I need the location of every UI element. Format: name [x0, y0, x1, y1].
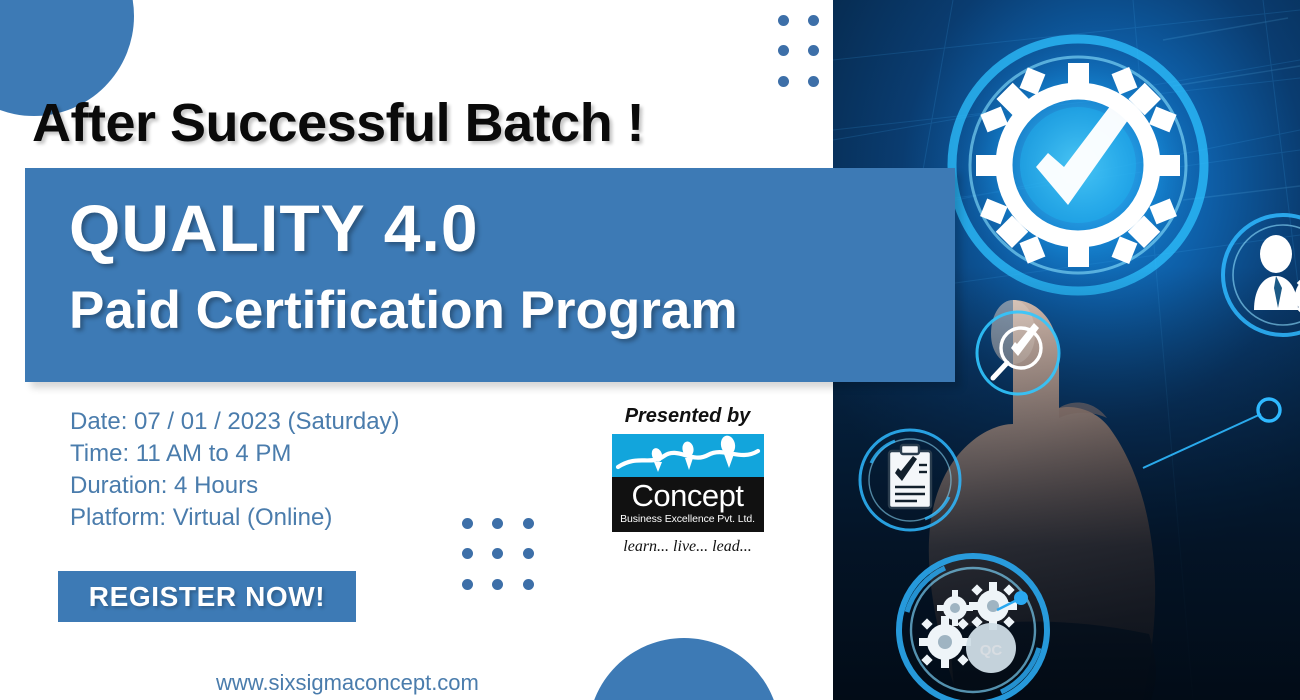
decorative-dot-grid-middle: [452, 508, 544, 600]
magnifier-check-icon: [973, 308, 1063, 398]
title-band: QUALITY 4.0 Paid Certification Program: [25, 168, 955, 382]
event-details-list: Date: 07 / 01 / 2023 (Saturday) Time: 11…: [70, 406, 400, 534]
presented-by-block: Presented by Concept Business Excellence…: [600, 405, 775, 556]
register-now-button[interactable]: REGISTER NOW!: [58, 571, 356, 622]
kicker-headline: After Successful Batch !: [32, 92, 644, 154]
dot: [492, 548, 503, 559]
dot: [492, 518, 503, 529]
qc-label: QC: [980, 642, 1003, 659]
logo-motto: learn... live... lead...: [612, 538, 764, 556]
detail-date: Date: 07 / 01 / 2023 (Saturday): [70, 406, 400, 438]
decorative-circle-bottom: [588, 638, 780, 700]
promo-banner: QC After Successful Batch ! QUALITY 4.0 …: [0, 0, 1300, 700]
logo-wordmark: Concept: [612, 479, 764, 513]
dot: [462, 579, 473, 590]
dot: [778, 76, 789, 87]
logo-figures-band: [612, 434, 764, 477]
dot: [462, 548, 473, 559]
dot: [462, 518, 473, 529]
detail-platform: Platform: Virtual (Online): [70, 502, 400, 534]
dot: [523, 518, 534, 529]
person-certified-icon: [1218, 210, 1300, 340]
clipboard-check-icon: [855, 425, 965, 535]
hud-connector-node: [1133, 390, 1300, 480]
website-url[interactable]: www.sixsigmaconcept.com: [216, 670, 479, 696]
three-figures-icon: [612, 434, 764, 477]
detail-time: Time: 11 AM to 4 PM: [70, 438, 400, 470]
dot: [808, 45, 819, 56]
dot: [778, 15, 789, 26]
concept-logo: Concept Business Excellence Pvt. Ltd. le…: [612, 434, 764, 556]
logo-tagline: Business Excellence Pvt. Ltd.: [612, 513, 764, 526]
dot: [523, 548, 534, 559]
dot: [492, 579, 503, 590]
dot: [808, 76, 819, 87]
detail-duration: Duration: 4 Hours: [70, 470, 400, 502]
qc-gears-icon: QC: [893, 550, 1053, 700]
dot: [778, 45, 789, 56]
logo-name-band: Concept Business Excellence Pvt. Ltd.: [612, 477, 764, 532]
dot: [523, 579, 534, 590]
page-subtitle: Paid Certification Program: [69, 280, 738, 341]
dot: [808, 15, 819, 26]
page-title: QUALITY 4.0: [69, 190, 479, 266]
presented-by-label: Presented by: [600, 405, 775, 428]
